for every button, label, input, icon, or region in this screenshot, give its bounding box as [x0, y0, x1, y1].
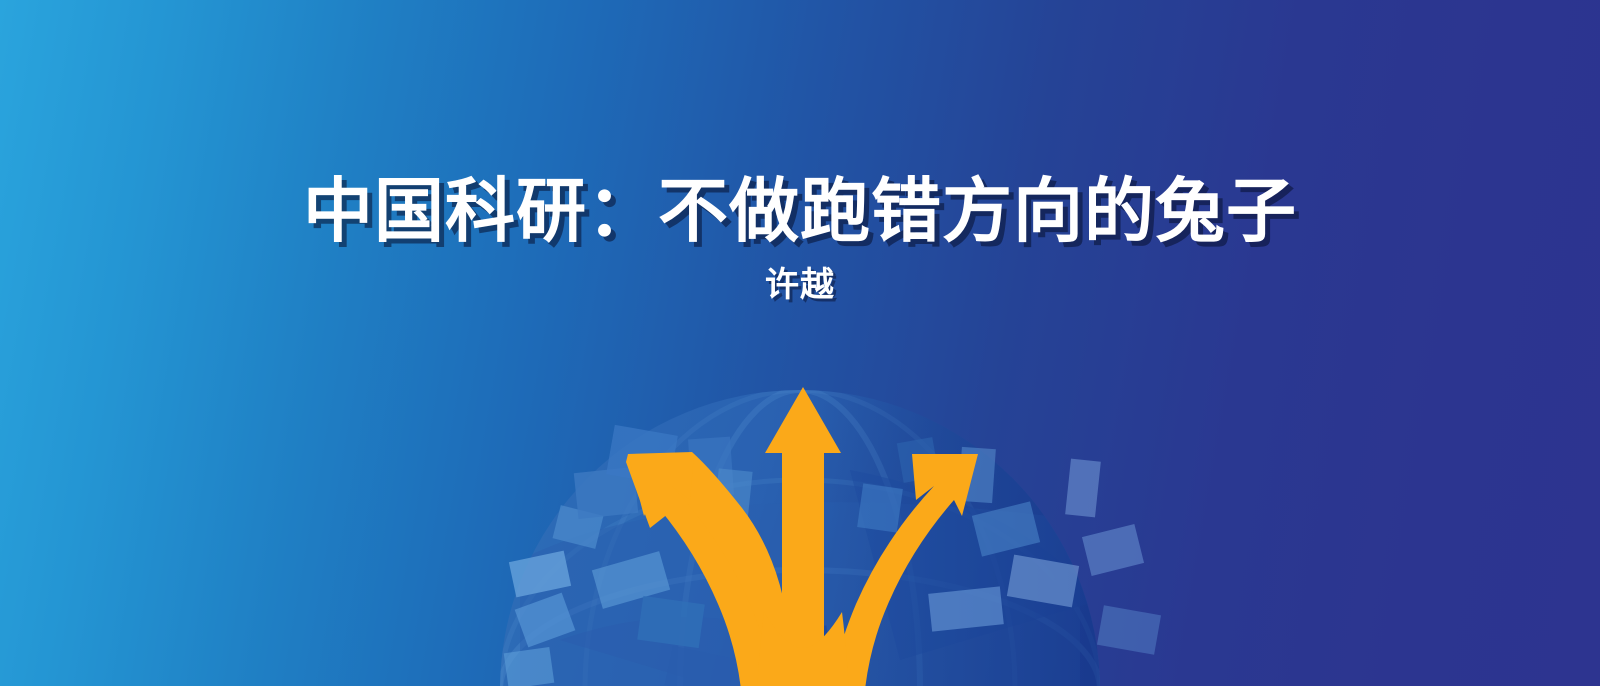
globe-tile [1065, 459, 1101, 518]
globe-tile [1097, 605, 1161, 654]
left-arrow [626, 452, 790, 686]
globe-tile [972, 501, 1040, 556]
globe-tile [606, 425, 678, 485]
globe-tile [1082, 524, 1144, 576]
globe-tile [665, 646, 736, 686]
presentation-slide: 中国科研：不做跑错方向的兔子 许越 [0, 0, 1600, 686]
globe-tile [688, 437, 734, 498]
globe-tile [553, 505, 604, 549]
globe-tile [928, 586, 1004, 631]
globe-tile [509, 551, 571, 598]
branching-arrows [626, 387, 978, 686]
globe-tile [515, 593, 576, 648]
center-arrow [765, 387, 841, 686]
author-name: 许越 [0, 246, 1600, 302]
globe-tile [958, 447, 996, 503]
slide-text-block: 中国科研：不做跑错方向的兔子 许越 [0, 0, 1600, 302]
globe-graphic [500, 390, 1161, 686]
right-arrow-shape [830, 454, 978, 686]
globe-tile [713, 468, 752, 523]
globe-tile [637, 596, 705, 648]
globe-tile [574, 467, 638, 519]
globe-tile [1007, 555, 1079, 608]
globe-tile-cluster [504, 425, 1161, 686]
globe-tile [592, 551, 670, 609]
globe-tile [857, 483, 903, 532]
globe-meridians [500, 390, 1120, 686]
globe-tile [757, 625, 833, 682]
globe-tile [897, 437, 939, 483]
page-title: 中国科研：不做跑错方向的兔子 [0, 0, 1600, 246]
arrow-trunk [757, 612, 849, 686]
globe-tile [504, 647, 555, 686]
left-arrow-shape [628, 454, 776, 686]
